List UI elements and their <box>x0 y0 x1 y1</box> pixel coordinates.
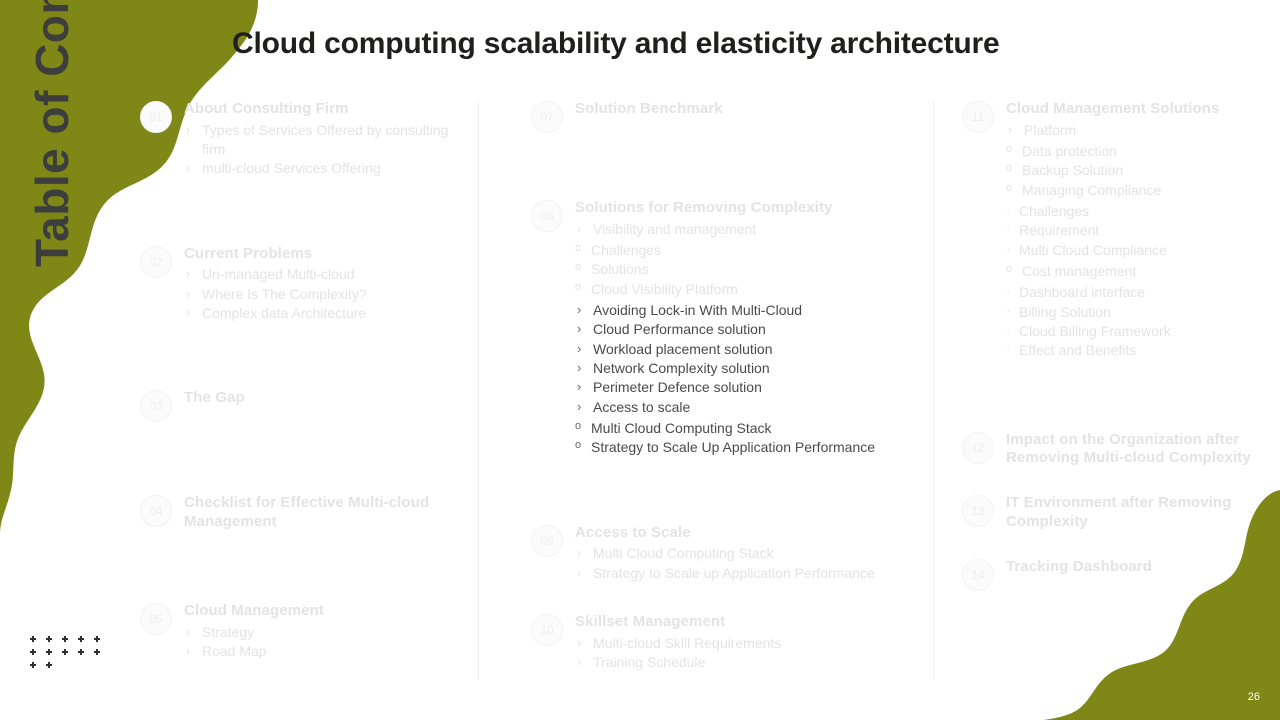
toc-entry-title: Tracking Dashboard <box>1006 558 1270 577</box>
toc-entry-body: Solutions for Removing Complexity›Visibi… <box>563 199 921 458</box>
toc-sub-item[interactable]: ›Multi-cloud Skill Requirements <box>575 634 921 653</box>
toc-sub-item-label: Avoiding Lock-in With Multi-Cloud <box>593 302 802 318</box>
bullet-marker-icon: › <box>186 285 190 303</box>
toc-sub-item[interactable]: ›Types of Services Offered by consulting… <box>184 121 462 160</box>
toc-sub-item[interactable]: ·Requirement <box>1006 221 1270 240</box>
toc-sub-item[interactable]: ›Un-managed Multi-cloud <box>184 265 462 284</box>
toc-sub-item[interactable]: oBackup Solution <box>1006 161 1270 180</box>
page-title: Cloud computing scalability and elastici… <box>232 26 1232 62</box>
toc-entry-title: Skillset Management <box>575 613 921 632</box>
toc-entry-body: Access to Scale›Multi Cloud Computing St… <box>563 524 921 583</box>
toc-entry-number-badge: 03 <box>140 390 172 422</box>
toc-sub-item-label: Types of Services Offered by consulting … <box>202 122 448 157</box>
bullet-marker-icon: › <box>186 642 190 660</box>
toc-sub-item-label: Strategy <box>202 624 254 640</box>
toc-entry-number-badge: 13 <box>962 495 994 527</box>
slide-root: Table of Contents Cloud computing scalab… <box>0 0 1280 720</box>
toc-sub-item[interactable]: oManaging Compliance <box>1006 181 1270 200</box>
toc-sub-list-level-1: ›Multi-cloud Skill Requirements›Training… <box>575 634 921 673</box>
toc-sub-item-label: Cloud Billing Framework <box>1019 323 1171 339</box>
toc-entry-body: Impact on the Organization after Removin… <box>994 431 1270 469</box>
bullet-marker-icon: › <box>577 220 581 238</box>
toc-sub-item[interactable]: ›multi-cloud Services Offering <box>184 159 462 178</box>
toc-sub-item-label: Network Complexity solution <box>593 360 770 376</box>
bullet-marker-icon: · <box>1006 220 1010 238</box>
bullet-marker-icon: o <box>1006 142 1012 157</box>
toc-entry[interactable]: 08Solutions for Removing Complexity›Visi… <box>531 199 921 458</box>
toc-sub-list-level-1: ›Avoiding Lock-in With Multi-Cloud›Cloud… <box>575 301 921 417</box>
toc-entry-body: IT Environment after Removing Complexity <box>994 494 1270 532</box>
toc-sub-item[interactable]: ›Visibility and management <box>575 220 921 239</box>
toc-entry[interactable]: 01About Consulting Firm›Types of Service… <box>140 100 462 179</box>
bullet-marker-icon: · <box>1006 282 1010 300</box>
toc-sub-item[interactable]: ›Workload placement solution <box>575 340 921 359</box>
toc-sub-list-level-2: oChallengesoSolutionsoCloud Visibility P… <box>575 241 921 299</box>
toc-sub-item-label: Solutions <box>591 261 649 277</box>
toc-entry-number-badge: 07 <box>531 101 563 133</box>
toc-sub-item[interactable]: oChallenges <box>575 241 921 260</box>
toc-sub-item[interactable]: ›Network Complexity solution <box>575 359 921 378</box>
toc-entry-number-badge: 09 <box>531 525 563 557</box>
toc-entry-number-badge: 01 <box>140 101 172 133</box>
bullet-marker-icon: o <box>575 419 581 434</box>
bullet-marker-icon: › <box>186 623 190 641</box>
toc-sub-item-label: Backup Solution <box>1022 162 1123 178</box>
toc-entry-title: The Gap <box>184 389 462 408</box>
toc-sub-item-label: Training Schedule <box>593 654 705 670</box>
toc-entry[interactable]: 11Cloud Management Solutions›PlatformoDa… <box>962 100 1270 361</box>
toc-entry-body: Cloud Management Solutions›PlatformoData… <box>994 100 1270 361</box>
toc-sub-item[interactable]: oSolutions <box>575 260 921 279</box>
bullet-marker-icon: · <box>1006 240 1010 258</box>
toc-entry[interactable]: 07Solution Benchmark <box>531 100 921 133</box>
toc-entry-body: The Gap <box>172 389 462 408</box>
toc-sub-list-level-1: ›Visibility and management <box>575 220 921 239</box>
bullet-marker-icon: · <box>1006 302 1010 320</box>
toc-column-1: 01About Consulting Firm›Types of Service… <box>140 100 478 680</box>
toc-entry[interactable]: 10Skillset Management›Multi-cloud Skill … <box>531 613 921 672</box>
bullet-marker-icon: › <box>186 304 190 322</box>
bullet-marker-icon: › <box>577 564 581 582</box>
toc-sub-item[interactable]: ·Effect and Benefits <box>1006 341 1270 360</box>
plus-dots-decoration <box>30 636 100 670</box>
toc-entry-number-badge: 02 <box>140 246 172 278</box>
toc-sub-list-level-3: ·Dashboard interface·Billing Solution·Cl… <box>1006 283 1270 360</box>
toc-sub-item[interactable]: ›Platform <box>1006 121 1270 140</box>
toc-sub-item[interactable]: oStrategy to Scale Up Application Perfor… <box>575 438 921 457</box>
toc-sub-item-label: Complex data Architecture <box>202 305 366 321</box>
bullet-marker-icon: › <box>577 544 581 562</box>
toc-sub-item[interactable]: oMulti Cloud Computing Stack <box>575 419 921 438</box>
toc-sub-item[interactable]: ›Access to scale <box>575 398 921 417</box>
toc-sub-item[interactable]: ›Avoiding Lock-in With Multi-Cloud <box>575 301 921 320</box>
bullet-marker-icon: o <box>1006 181 1012 196</box>
toc-entry-body: Current Problems›Un-managed Multi-cloud›… <box>172 245 462 324</box>
toc-sub-item-label: Managing Compliance <box>1022 182 1161 198</box>
bullet-marker-icon: o <box>575 438 581 453</box>
bullet-marker-icon: › <box>1008 121 1012 139</box>
toc-sub-item-label: Perimeter Defence solution <box>593 379 762 395</box>
toc-sub-item[interactable]: ·Billing Solution <box>1006 303 1270 322</box>
toc-entry[interactable]: 13IT Environment after Removing Complexi… <box>962 494 1270 532</box>
bullet-marker-icon: · <box>1006 340 1010 358</box>
toc-sub-item-label: Challenges <box>1019 203 1089 219</box>
toc-sub-list-level-1: ›Un-managed Multi-cloud›Where Is The Com… <box>184 265 462 323</box>
toc-sub-item[interactable]: ·Dashboard interface <box>1006 283 1270 302</box>
toc-sub-list-level-2: oData protectionoBackup SolutionoManagin… <box>1006 142 1270 200</box>
toc-entry[interactable]: 05Cloud Management›Strategy›Road Map <box>140 602 462 661</box>
toc-entry-title: About Consulting Firm <box>184 100 462 119</box>
toc-sub-item-label: Visibility and management <box>593 221 756 237</box>
toc-sub-list-level-3: ·Challenges·Requirement·Multi Cloud Comp… <box>1006 202 1270 260</box>
toc-sub-list-level-1: ›Strategy›Road Map <box>184 623 462 662</box>
toc-entry-number-badge: 11 <box>962 101 994 133</box>
toc-sub-item-label: Where Is The Complexity? <box>202 286 367 302</box>
bullet-marker-icon: · <box>1006 321 1010 339</box>
toc-sub-list-level-1: ›Multi Cloud Computing Stack›Strategy to… <box>575 544 921 583</box>
toc-entry-number-badge: 10 <box>531 614 563 646</box>
toc-entry-body: Cloud Management›Strategy›Road Map <box>172 602 462 661</box>
toc-sub-list-level-1: ›Types of Services Offered by consulting… <box>184 121 462 179</box>
toc-entry[interactable]: 12Impact on the Organization after Remov… <box>962 431 1270 469</box>
bullet-marker-icon: o <box>575 260 581 275</box>
bullet-marker-icon: › <box>577 320 581 338</box>
toc-sub-item[interactable]: ›Training Schedule <box>575 653 921 672</box>
toc-sub-item[interactable]: ›Road Map <box>184 642 462 661</box>
toc-sub-item[interactable]: ›Strategy to Scale up Application Perfor… <box>575 564 921 583</box>
toc-entry-title: Solutions for Removing Complexity <box>575 199 921 218</box>
toc-entry-title: Cloud Management <box>184 602 462 621</box>
bullet-marker-icon: › <box>577 340 581 358</box>
bullet-marker-icon: › <box>577 398 581 416</box>
bullet-marker-icon: › <box>186 121 190 139</box>
toc-sub-item[interactable]: ·Multi Cloud Compliance <box>1006 241 1270 260</box>
toc-entry-number-badge: 04 <box>140 495 172 527</box>
toc-sub-item-label: multi-cloud Services Offering <box>202 160 381 176</box>
toc-columns: 01About Consulting Firm›Types of Service… <box>140 100 1270 680</box>
toc-entry-number-badge: 14 <box>962 559 994 591</box>
bullet-marker-icon: · <box>1006 201 1010 219</box>
toc-sub-item[interactable]: ·Cloud Billing Framework <box>1006 322 1270 341</box>
toc-sub-item-label: Dashboard interface <box>1019 284 1145 300</box>
bullet-marker-icon: o <box>575 280 581 295</box>
bullet-marker-icon: › <box>577 378 581 396</box>
bullet-marker-icon: › <box>186 159 190 177</box>
toc-entry-title: IT Environment after Removing Complexity <box>1006 494 1270 532</box>
bullet-marker-icon: o <box>1006 161 1012 176</box>
toc-sub-item-label: Multi-cloud Skill Requirements <box>593 635 781 651</box>
toc-sub-item-label: Platform <box>1024 122 1076 138</box>
toc-sub-item[interactable]: oData protection <box>1006 142 1270 161</box>
bullet-marker-icon: › <box>577 301 581 319</box>
toc-sub-item-label: Requirement <box>1019 222 1099 238</box>
toc-sub-list-level-2: oMulti Cloud Computing StackoStrategy to… <box>575 419 921 458</box>
toc-sub-item-label: Access to scale <box>593 399 690 415</box>
bullet-marker-icon: › <box>577 634 581 652</box>
bullet-marker-icon: › <box>577 653 581 671</box>
toc-sub-item-label: Multi Cloud Compliance <box>1019 242 1167 258</box>
toc-sub-item-label: Effect and Benefits <box>1019 342 1136 358</box>
toc-sub-item[interactable]: ›Where Is The Complexity? <box>184 285 462 304</box>
toc-entry-number-badge: 12 <box>962 432 994 464</box>
toc-entry-number-badge: 08 <box>531 200 563 232</box>
toc-sub-item[interactable]: oCost management <box>1006 262 1270 281</box>
toc-entry-title: Checklist for Effective Multi-cloud Mana… <box>184 494 462 532</box>
side-heading: Table of Contents <box>16 0 88 267</box>
toc-entry[interactable]: 02Current Problems›Un-managed Multi-clou… <box>140 245 462 324</box>
toc-sub-item-label: Cloud Performance solution <box>593 321 766 337</box>
toc-entry-body: Tracking Dashboard <box>994 558 1270 577</box>
toc-sub-list-level-2: oCost management <box>1006 262 1270 281</box>
toc-sub-item-label: Workload placement solution <box>593 341 773 357</box>
toc-entry-body: Checklist for Effective Multi-cloud Mana… <box>172 494 462 532</box>
toc-sub-item-label: Strategy to Scale up Application Perform… <box>593 565 875 581</box>
toc-entry[interactable]: 14Tracking Dashboard <box>962 558 1270 591</box>
toc-entry-title: Current Problems <box>184 245 462 264</box>
toc-sub-item-label: Strategy to Scale Up Application Perform… <box>591 439 875 455</box>
toc-sub-item-label: Billing Solution <box>1019 304 1111 320</box>
toc-column-3: 11Cloud Management Solutions›PlatformoDa… <box>933 100 1270 680</box>
toc-entry-body: About Consulting Firm›Types of Services … <box>172 100 462 179</box>
toc-entry-body: Skillset Management›Multi-cloud Skill Re… <box>563 613 921 672</box>
toc-sub-item[interactable]: ›Perimeter Defence solution <box>575 378 921 397</box>
toc-sub-item-label: Un-managed Multi-cloud <box>202 266 355 282</box>
toc-sub-item-label: Road Map <box>202 643 267 659</box>
toc-entry-title: Solution Benchmark <box>575 100 921 119</box>
bullet-marker-icon: o <box>575 241 581 256</box>
toc-sub-item-label: Challenges <box>591 242 661 258</box>
toc-entry-body: Solution Benchmark <box>563 100 921 119</box>
bullet-marker-icon: › <box>186 265 190 283</box>
toc-entry-number-badge: 05 <box>140 603 172 635</box>
toc-entry-title: Impact on the Organization after Removin… <box>1006 431 1270 469</box>
toc-entry[interactable]: 09Access to Scale›Multi Cloud Computing … <box>531 524 921 583</box>
toc-sub-item[interactable]: ›Cloud Performance solution <box>575 320 921 339</box>
bullet-marker-icon: › <box>577 359 581 377</box>
toc-sub-item[interactable]: ›Strategy <box>184 623 462 642</box>
toc-entry-title: Access to Scale <box>575 524 921 543</box>
toc-column-2: 07Solution Benchmark08Solutions for Remo… <box>478 100 933 680</box>
toc-sub-item[interactable]: ·Challenges <box>1006 202 1270 221</box>
toc-sub-item-label: Multi Cloud Computing Stack <box>593 545 774 561</box>
toc-sub-item[interactable]: oCloud Visibility Platform <box>575 280 921 299</box>
toc-sub-item-label: Data protection <box>1022 143 1117 159</box>
toc-entry[interactable]: 04Checklist for Effective Multi-cloud Ma… <box>140 494 462 532</box>
toc-sub-item[interactable]: ›Multi Cloud Computing Stack <box>575 544 921 563</box>
toc-sub-item-label: Cost management <box>1022 263 1136 279</box>
bullet-marker-icon: o <box>1006 262 1012 277</box>
toc-sub-list-level-1: ›Platform <box>1006 121 1270 140</box>
toc-sub-item-label: Cloud Visibility Platform <box>591 281 738 297</box>
toc-entry-title: Cloud Management Solutions <box>1006 100 1270 119</box>
toc-entry[interactable]: 03The Gap <box>140 389 462 422</box>
page-number: 26 <box>1248 691 1260 703</box>
toc-sub-item-label: Multi Cloud Computing Stack <box>591 420 772 436</box>
toc-sub-item[interactable]: ›Complex data Architecture <box>184 304 462 323</box>
